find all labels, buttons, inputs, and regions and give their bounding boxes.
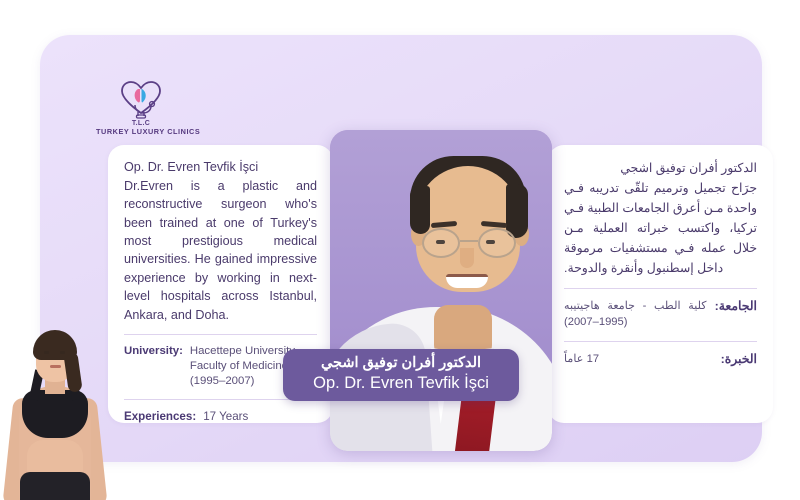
doctor-name-ar: الدكتور أفران توفيق اشجي (564, 159, 757, 178)
university-label-en: University: (124, 344, 183, 389)
doctor-bio-en: Dr.Evren is a plastic and reconstructive… (124, 177, 317, 324)
screenshot-canvas: T.L.C TURKEY LUXURY CLINICS Op. Dr. Evre… (0, 0, 800, 500)
heart-stethoscope-icon (96, 79, 186, 119)
banner-name-en: Op. Dr. Evren Tevfik İşci (283, 373, 519, 394)
panel-divider-4 (564, 341, 757, 342)
university-row-ar: الجامعة: كلية الطب - جامعة هاجيتيبه (199… (564, 298, 757, 330)
doctor-bio-ar: جرَاح تجميل وترميم تلقّى تدريبه فـي واحد… (564, 178, 757, 278)
panel-divider-1 (124, 334, 317, 335)
university-label-ar: الجامعة: (715, 298, 757, 313)
experiences-value-ar: 17 عاماً (564, 351, 713, 367)
fitness-model-photo (0, 308, 108, 500)
logo-brand-name: TURKEY LUXURY CLINICS (96, 127, 186, 136)
portrait-illustration (330, 130, 552, 451)
experiences-value-en: 17 Years (203, 409, 248, 424)
experiences-row-ar: الخبرة: 17 عاماً (564, 351, 757, 367)
experiences-label-ar: الخبرة: (721, 351, 757, 366)
panel-divider-3 (564, 288, 757, 289)
doctor-portrait-photo (330, 130, 552, 451)
experiences-label-en: Experiences: (124, 409, 196, 424)
university-value-ar: كلية الطب - جامعة هاجيتيبه (1995–2007) (564, 298, 707, 330)
banner-name-ar: الدكتور أفران توفيق اشجي (283, 354, 519, 373)
experiences-row-en: Experiences: 17 Years (124, 409, 317, 424)
arabic-info-panel: الدكتور أفران توفيق اشجي جرَاح تجميل وتر… (548, 145, 773, 423)
clinic-logo: T.L.C TURKEY LUXURY CLINICS (96, 79, 186, 136)
doctor-name-banner: الدكتور أفران توفيق اشجي Op. Dr. Evren T… (283, 349, 519, 401)
doctor-name-en: Op. Dr. Evren Tevfik İşci (124, 159, 317, 177)
logo-abbrev: T.L.C (96, 120, 186, 127)
